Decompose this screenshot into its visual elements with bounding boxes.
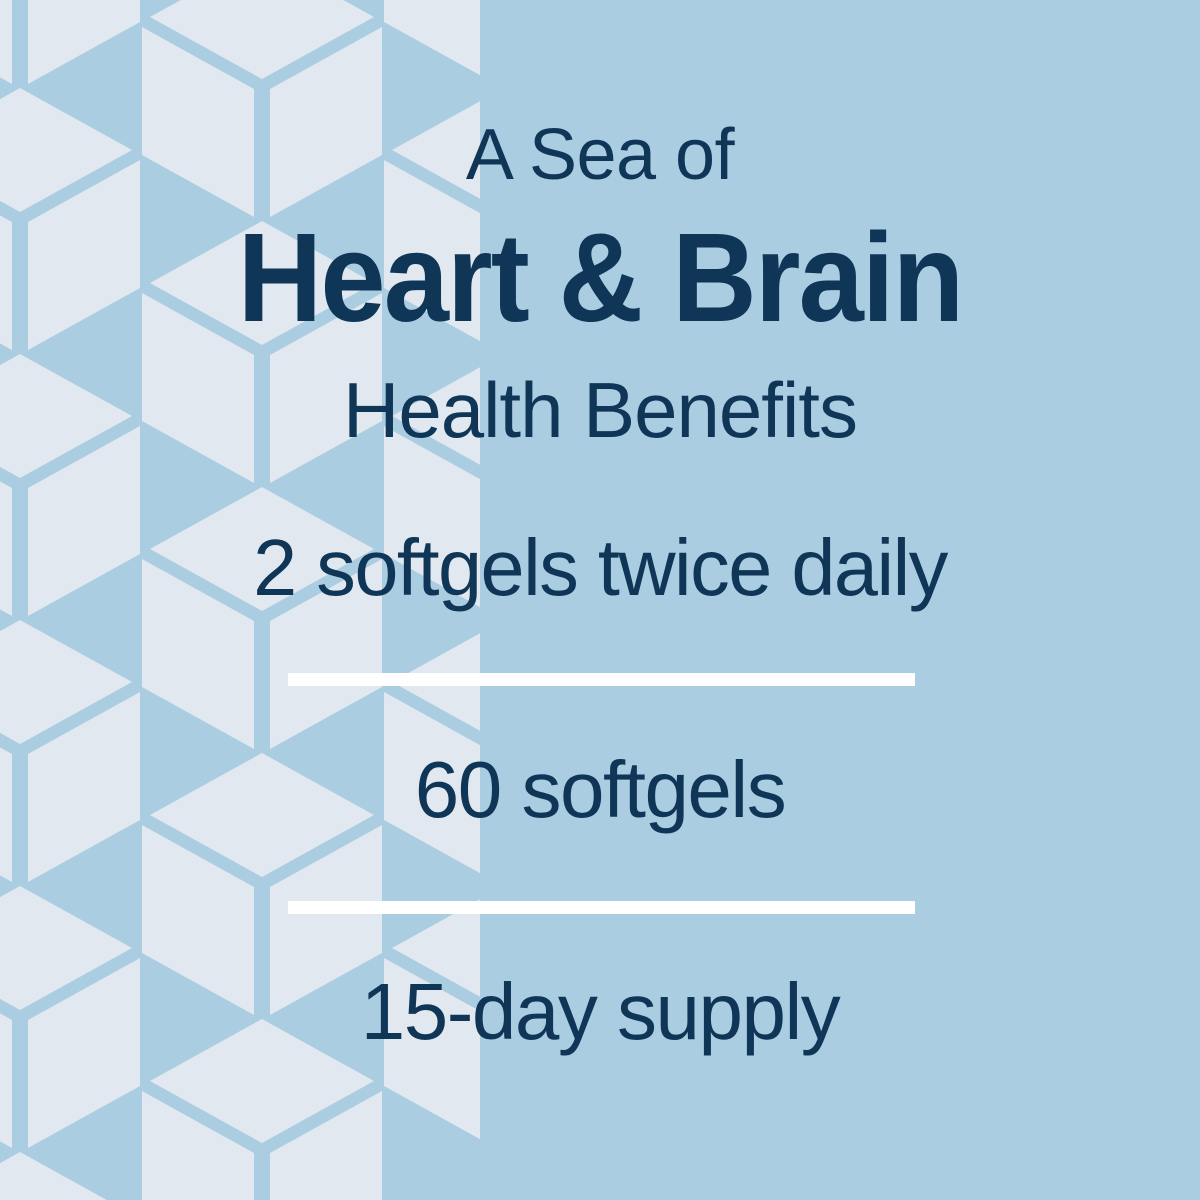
- dosage-text: 2 softgels twice daily: [6, 528, 1194, 608]
- subheadline-text: Health Benefits: [0, 371, 1200, 449]
- product-benefit-card: A Sea of Heart & Brain Health Benefits 2…: [0, 0, 1200, 1200]
- divider-top: [288, 673, 915, 686]
- headline-text: Heart & Brain: [42, 215, 1158, 341]
- eyebrow-text: A Sea of: [0, 119, 1200, 191]
- card-content: A Sea of Heart & Brain Health Benefits 2…: [0, 0, 1200, 1200]
- supply-duration-text: 15-day supply: [0, 972, 1200, 1052]
- softgel-count-text: 60 softgels: [0, 750, 1200, 830]
- divider-bottom: [288, 901, 915, 914]
